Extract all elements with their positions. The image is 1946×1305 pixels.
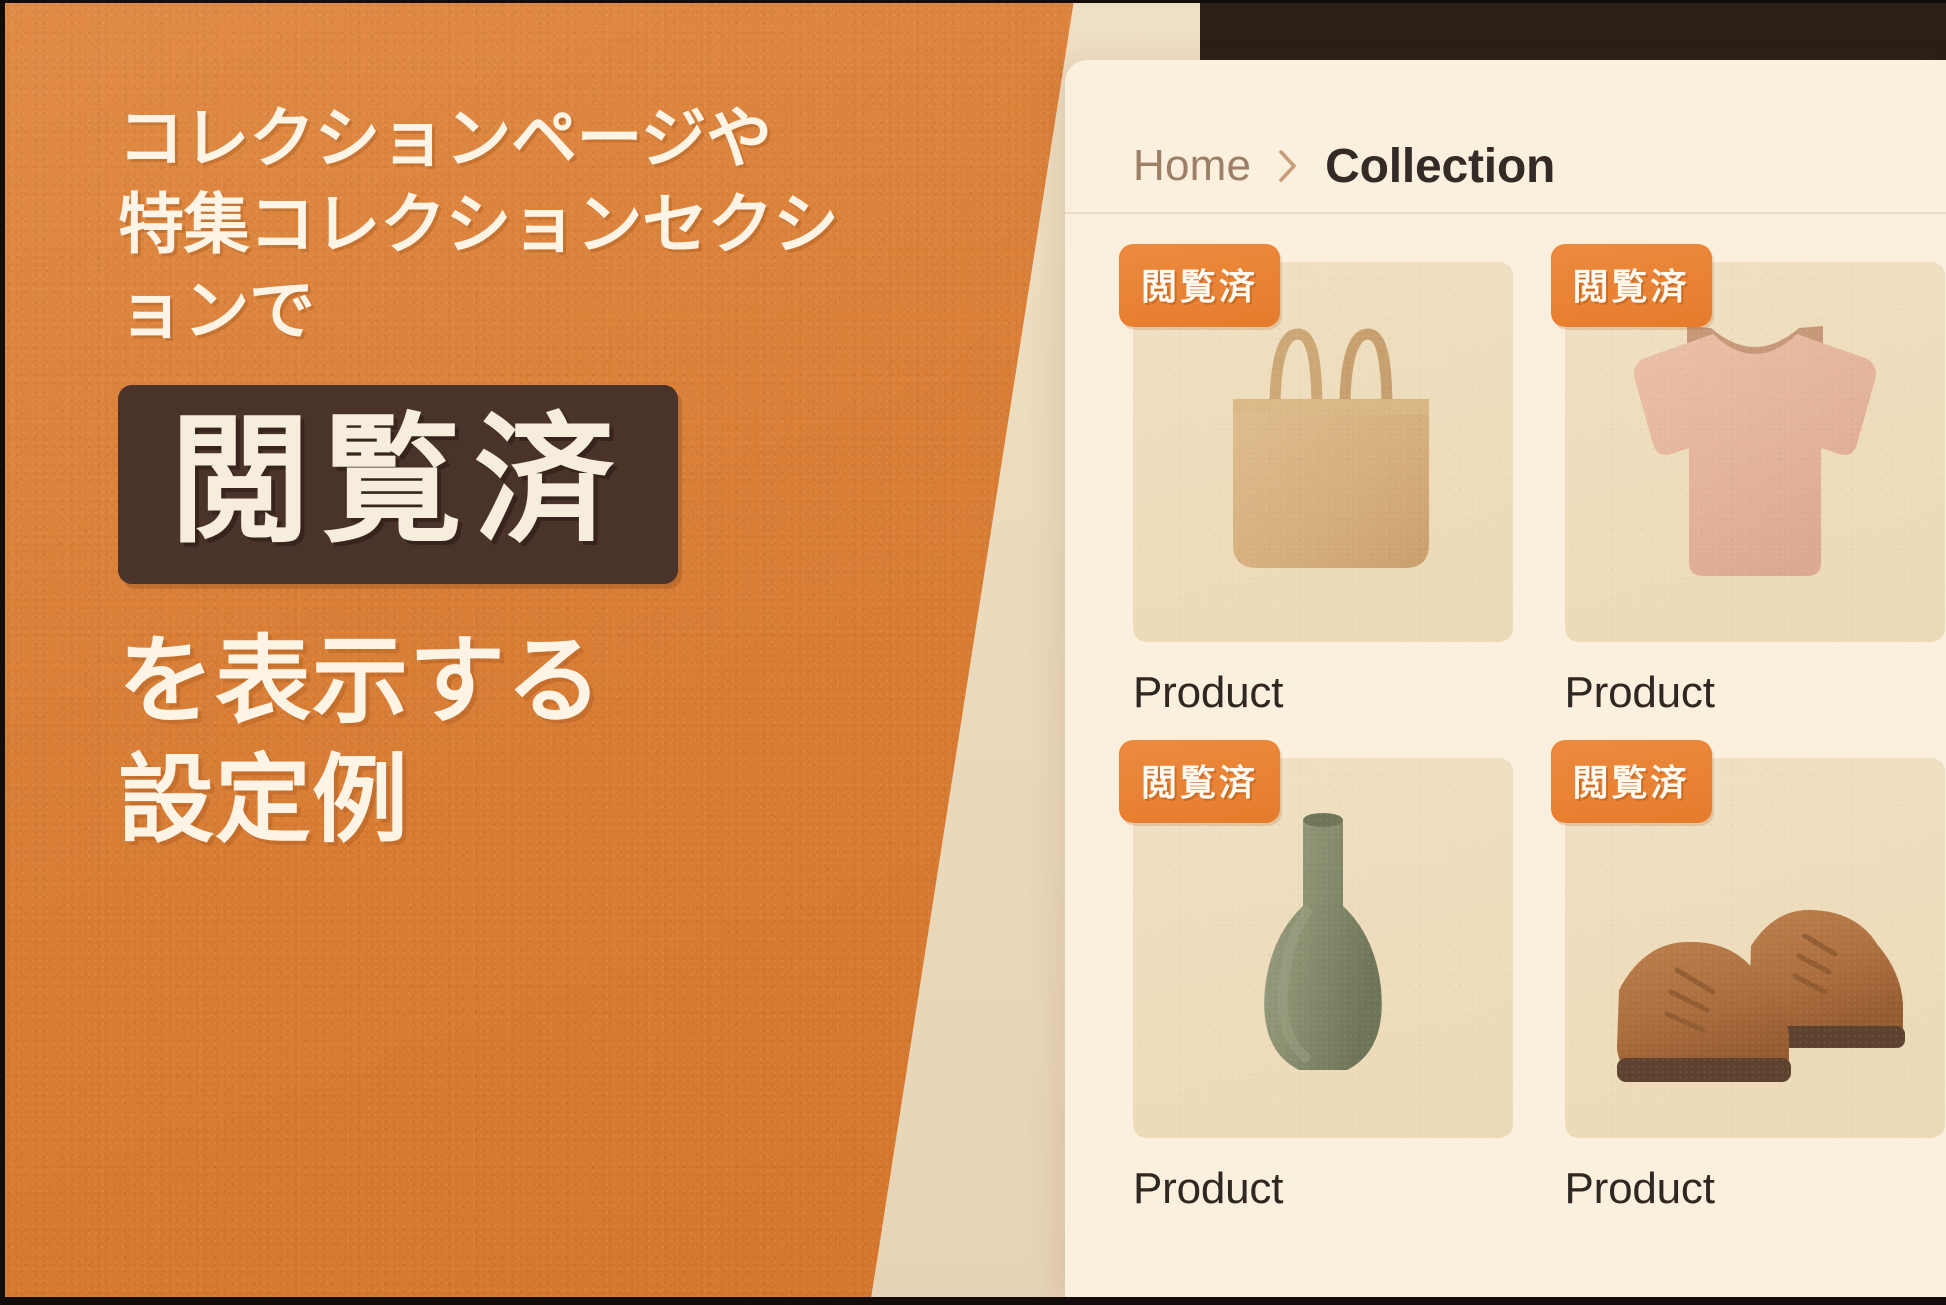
breadcrumb-home-link[interactable]: Home: [1133, 141, 1251, 191]
product-name: Product: [1565, 668, 1945, 718]
headline-tail: を表示する 設定例: [118, 622, 948, 860]
headline-lede: コレクションページや 特集コレクションセクシ ョンで: [118, 96, 948, 353]
highlight-wrapper: 閲覧済: [118, 385, 948, 584]
viewed-badge: 閲覧済: [1119, 740, 1280, 823]
viewed-badge: 閲覧済: [1551, 740, 1712, 823]
product-name: Product: [1133, 1164, 1513, 1214]
viewed-badge: 閲覧済: [1551, 244, 1712, 327]
highlight-text: 閲覧済: [170, 402, 626, 559]
product-name: Product: [1133, 668, 1513, 718]
poster-canvas: コレクションページや 特集コレクションセクシ ョンで 閲覧済 を表示する 設定例…: [0, 0, 1946, 1305]
product-card[interactable]: 閲覧済 Product: [1133, 758, 1513, 1214]
chevron-right-icon: [1277, 149, 1299, 183]
frame-edge-top: [0, 0, 1946, 3]
frame-edge-left: [0, 0, 5, 1305]
product-card[interactable]: 閲覧済 Product: [1133, 262, 1513, 718]
product-card[interactable]: 閲覧済 Product: [1565, 758, 1945, 1214]
headline-copy-block: コレクションページや 特集コレクションセクシ ョンで 閲覧済 を表示する 設定例: [118, 96, 948, 860]
viewed-badge: 閲覧済: [1119, 244, 1280, 327]
breadcrumb-current-page: Collection: [1325, 139, 1555, 194]
product-name: Product: [1565, 1164, 1945, 1214]
collection-page-mock: Home Collection: [1065, 60, 1946, 1305]
product-card[interactable]: 閲覧済 Product: [1565, 262, 1945, 718]
highlight-box: 閲覧済: [118, 385, 678, 584]
breadcrumb: Home Collection: [1065, 60, 1946, 212]
product-grid: 閲覧済 Product: [1065, 214, 1946, 1214]
frame-edge-bottom: [0, 1297, 1946, 1305]
